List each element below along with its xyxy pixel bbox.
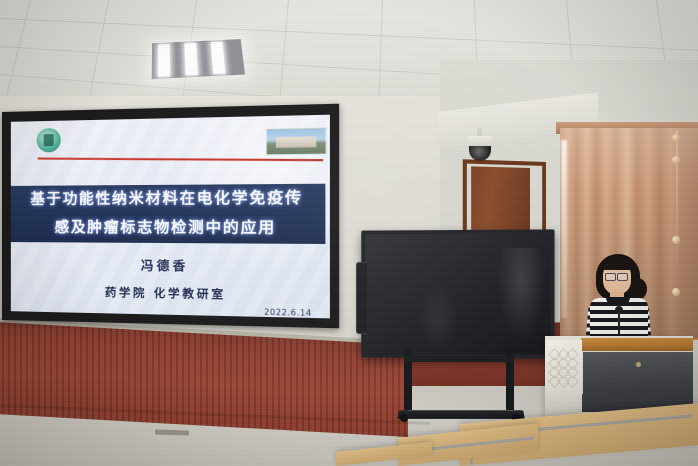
podium-wood-top <box>581 338 698 351</box>
display-side-bracket <box>356 262 367 334</box>
slide-title-band: 基于功能性纳米材料在电化学免疫传 感及肿瘤标志物检测中的应用 <box>11 184 326 244</box>
display-reflection <box>418 284 458 354</box>
curtain-cord-bead[interactable] <box>672 288 680 296</box>
eyeglasses-icon <box>617 273 628 281</box>
eyeglasses-icon <box>605 273 616 281</box>
flat-panel-display[interactable] <box>361 229 554 358</box>
stand-caster <box>400 414 408 422</box>
slide-title-line-1: 基于功能性纳米材料在电化学免疫传 <box>11 184 326 214</box>
podium-lattice-pattern <box>550 350 576 388</box>
lecture-hall-photo: 基于功能性纳米材料在电化学免疫传 感及肿瘤标志物检测中的应用 冯德香 药学院 化… <box>0 0 698 466</box>
display-stand-crossbar <box>404 356 514 362</box>
podium-lock-icon[interactable] <box>636 362 641 367</box>
slide-date: 2022.6.14 <box>264 307 312 318</box>
ceiling-light-panel-left <box>152 39 245 79</box>
slide-title-line-2: 感及肿瘤标志物检测中的应用 <box>11 214 326 244</box>
curtain-cord[interactable] <box>676 130 678 290</box>
projected-slide: 基于功能性纳米材料在电化学免疫传 感及肿瘤标志物检测中的应用 冯德香 药学院 化… <box>11 115 330 319</box>
projection-screen[interactable]: 基于功能性纳米材料在电化学免疫传 感及肿瘤标志物检测中的应用 冯德香 药学院 化… <box>2 104 339 329</box>
curtain-cord-bead[interactable] <box>672 236 680 244</box>
curtain-cord-bead[interactable] <box>672 156 680 164</box>
campus-building-photo <box>266 128 327 156</box>
podium-front-panel <box>583 352 696 394</box>
display-stand-base <box>397 410 525 419</box>
presenter-fringe <box>601 258 633 270</box>
curtain-cord-bead[interactable] <box>672 134 680 142</box>
display-reflection <box>498 248 544 341</box>
window-light-seam <box>561 140 567 318</box>
